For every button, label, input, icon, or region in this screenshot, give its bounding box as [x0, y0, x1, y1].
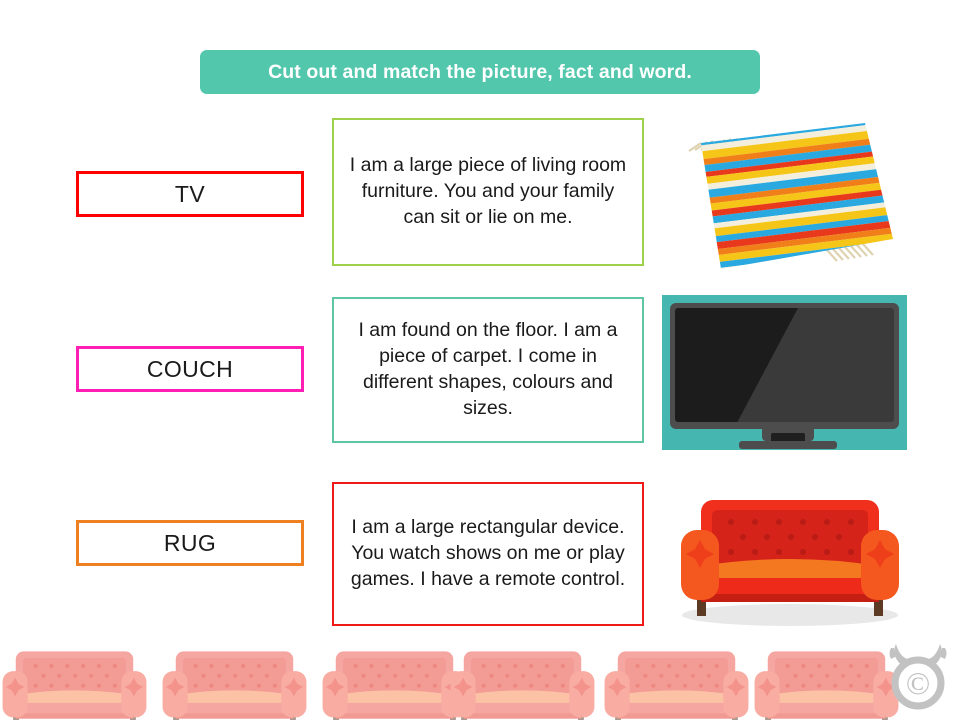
match-row: TV I am a large piece of living room fur…	[0, 115, 960, 275]
word-card-label: COUCH	[147, 356, 233, 383]
word-card-rug[interactable]: RUG	[76, 520, 304, 566]
television-icon	[670, 303, 899, 429]
word-card-label: RUG	[164, 530, 216, 557]
copyright-symbol: ©	[906, 665, 930, 701]
fact-card-couch[interactable]: I am a large piece of living room furnit…	[332, 118, 644, 266]
fact-card-text: I am a large piece of living room furnit…	[346, 153, 630, 231]
worksheet-page: Cut out and match the picture, fact and …	[0, 0, 960, 720]
copyright-moose-watermark: ©	[878, 636, 958, 716]
fact-card-television[interactable]: I am a large rectangular device. You wat…	[332, 482, 644, 626]
match-row: RUG I am a large rectangular device. You…	[0, 476, 960, 631]
fact-card-text: I am a large rectangular device. You wat…	[346, 515, 630, 593]
fact-card-rug[interactable]: I am found on the floor. I am a piece of…	[332, 297, 644, 443]
fact-card-text: I am found on the floor. I am a piece of…	[346, 318, 630, 422]
picture-card-rug[interactable]	[655, 115, 920, 280]
picture-card-couch[interactable]	[655, 476, 920, 636]
picture-card-television[interactable]	[655, 293, 920, 453]
header-banner: Cut out and match the picture, fact and …	[200, 50, 760, 94]
pink-couch-icon	[440, 634, 605, 720]
pink-couch-icon	[152, 634, 317, 720]
pink-couch-icon	[0, 634, 157, 720]
striped-rug-icon	[667, 121, 917, 276]
word-card-tv[interactable]: TV	[76, 171, 304, 217]
page-title: Cut out and match the picture, fact and …	[268, 61, 692, 84]
word-card-couch[interactable]: COUCH	[76, 346, 304, 392]
television-screen	[675, 308, 894, 422]
red-couch-icon	[665, 482, 915, 632]
word-card-label: TV	[175, 181, 205, 208]
pink-couch-border	[0, 634, 960, 720]
television-stand	[739, 441, 837, 449]
pink-couch-icon	[594, 634, 759, 720]
match-row: COUCH I am found on the floor. I am a pi…	[0, 293, 960, 453]
